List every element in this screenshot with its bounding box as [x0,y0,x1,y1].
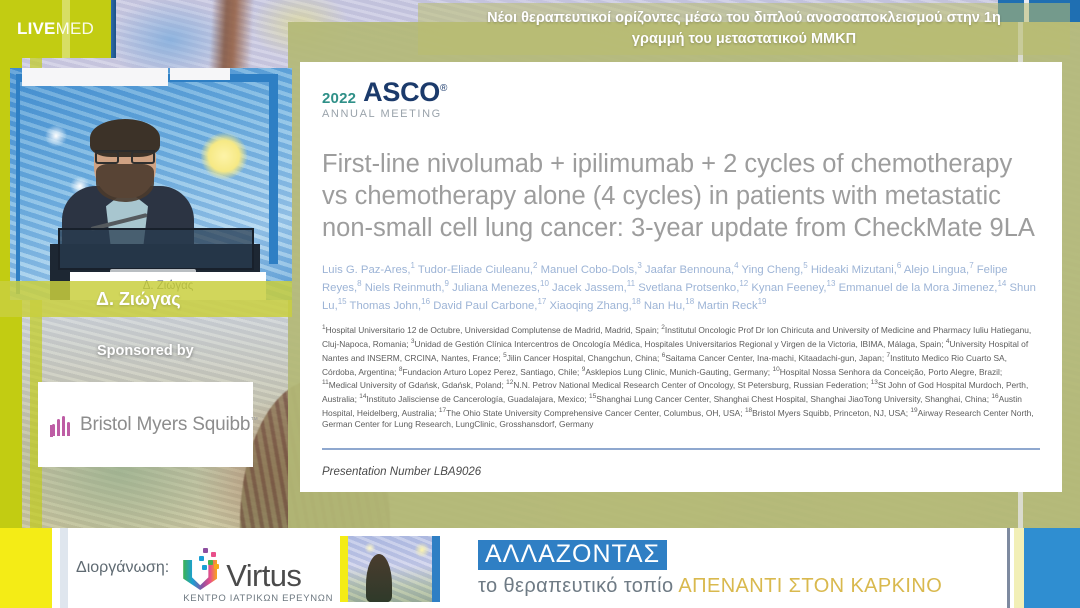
speaker-video-tile[interactable]: Δ. Ζιώγας [10,68,292,300]
footer-yellow-block [0,528,52,608]
campaign-tagline-gold: ΑΠΕΝΑΝΤΙ ΣΤΟΝ ΚΑΡΚΙΝΟ [678,575,942,597]
slide-affiliations: 1Hospital Universitario 12 de Octubre, U… [322,323,1040,431]
organizer-label: Διοργάνωση: [76,559,169,577]
bristol-myers-squibb-icon [52,414,72,436]
campaign-tagline-sub: το θεραπευτικό τοπίο ΑΠΕΝΑΝΤΙ ΣΤΟΝ ΚΑΡΚΙ… [478,575,942,598]
speaker-name-bar: Δ. Ζιώγας [0,281,292,317]
presentation-slide[interactable]: 2022 ASCO® ANNUAL MEETING First-line niv… [300,62,1062,492]
sponsor-name: Bristol Myers Squibb™ [80,414,258,436]
asco-name: ASCO® [363,80,447,106]
slide-title: First-line nivolumab + ipilimumab + 2 cy… [322,148,1038,244]
virtus-wordmark: Virtus [226,561,301,590]
slide-authors: Luis G. Paz-Ares,1 Tudor-Eliade Ciuleanu… [322,260,1040,314]
podium-glass-panel [58,228,254,270]
livemed-logo-live: LIVE [17,19,56,38]
virtus-logo[interactable]: Virtus ΚΕΝΤΡΟ ΙΑΤΡΙΚΩΝ ΕΡΕΥΝΩΝ [181,546,301,590]
footer-right-blue-block [1024,528,1080,608]
asco-name-text: ASCO [363,77,440,107]
asco-logo: 2022 ASCO® ANNUAL MEETING [322,80,1040,120]
organizer-block: Διοργάνωση: Virtus ΚΕΝΤΡΟ ΙΑΤΡΙΚΩΝ ΕΡΕΥΝ… [76,528,301,608]
footer-right-cream-strip [1014,528,1024,608]
footer-artwork-cypress [366,554,392,602]
campaign-tagline-kicker: ΑΛΛΑΖΟΝΤΑΣ [478,540,667,570]
footer-gray-divider [60,528,68,608]
asco-subtitle: ANNUAL MEETING [322,108,1040,120]
campaign-tagline: ΑΛΛΑΖΟΝΤΑΣ το θεραπευτικό τοπίο ΑΠΕΝΑΝΤΙ… [478,540,942,598]
slide-divider-rule [322,448,1040,450]
speaker-name: Δ. Ζιώγας [0,289,181,310]
session-title-line-1: Νέοι θεραπευτικοί ορίζοντες μέσω του διπ… [487,8,1001,29]
sponsored-by-label: Sponsored by [97,343,194,359]
livemed-logo[interactable]: LIVEMED [0,0,111,58]
virtus-icon-dot [199,556,204,561]
virtus-tagline: ΚΕΝΤΡΟ ΙΑΤΡΙΚΩΝ ΕΡΕΥΝΩΝ [183,593,333,604]
footer-bar: Διοργάνωση: Virtus ΚΕΝΤΡΟ ΙΑΤΡΙΚΩΝ ΕΡΕΥΝ… [0,528,1080,608]
virtus-icon-dot [202,565,207,570]
livemed-logo-med: MED [56,19,94,38]
virtus-icon-dot [211,552,216,557]
virtus-icon-dot [214,564,219,569]
sponsor-trademark: ™ [250,415,258,424]
asco-year: 2022 [322,91,356,106]
speaker-beard [96,164,154,202]
sponsor-logo-card[interactable]: Bristol Myers Squibb™ [38,382,253,467]
session-title-banner: Νέοι θεραπευτικοί ορίζοντες μέσω του διπ… [418,3,1070,55]
asco-trademark: ® [440,83,447,94]
asco-logo-row: 2022 ASCO® [322,80,1040,106]
sponsor-name-text: Bristol Myers Squibb [80,414,250,435]
virtus-icon [181,546,221,590]
virtus-icon-dot [203,548,208,553]
video-frame-right [269,74,278,264]
livemed-logo-text: LIVEMED [17,19,94,39]
campaign-tagline-gray: το θεραπευτικό τοπίο [478,575,674,597]
speaker-glasses [95,150,155,163]
session-title-line-2: γραμμή του μεταστατικού ΜΜΚΠ [632,29,856,50]
video-frame-left [16,74,20,294]
footer-artwork-thumbnail [340,536,440,602]
virtus-icon-dot [208,560,213,565]
video-white-band-right [170,68,230,80]
footer-right-line [1007,528,1010,608]
video-white-band-left [22,68,168,86]
webinar-player-stage: LIVEMED Νέοι θεραπευτικοί ορίζοντες μέσω… [0,0,1080,608]
presentation-number: Presentation Number LBA9026 [322,466,481,478]
bms-icon-arc [50,425,74,437]
logo-edge-accent [111,0,116,58]
